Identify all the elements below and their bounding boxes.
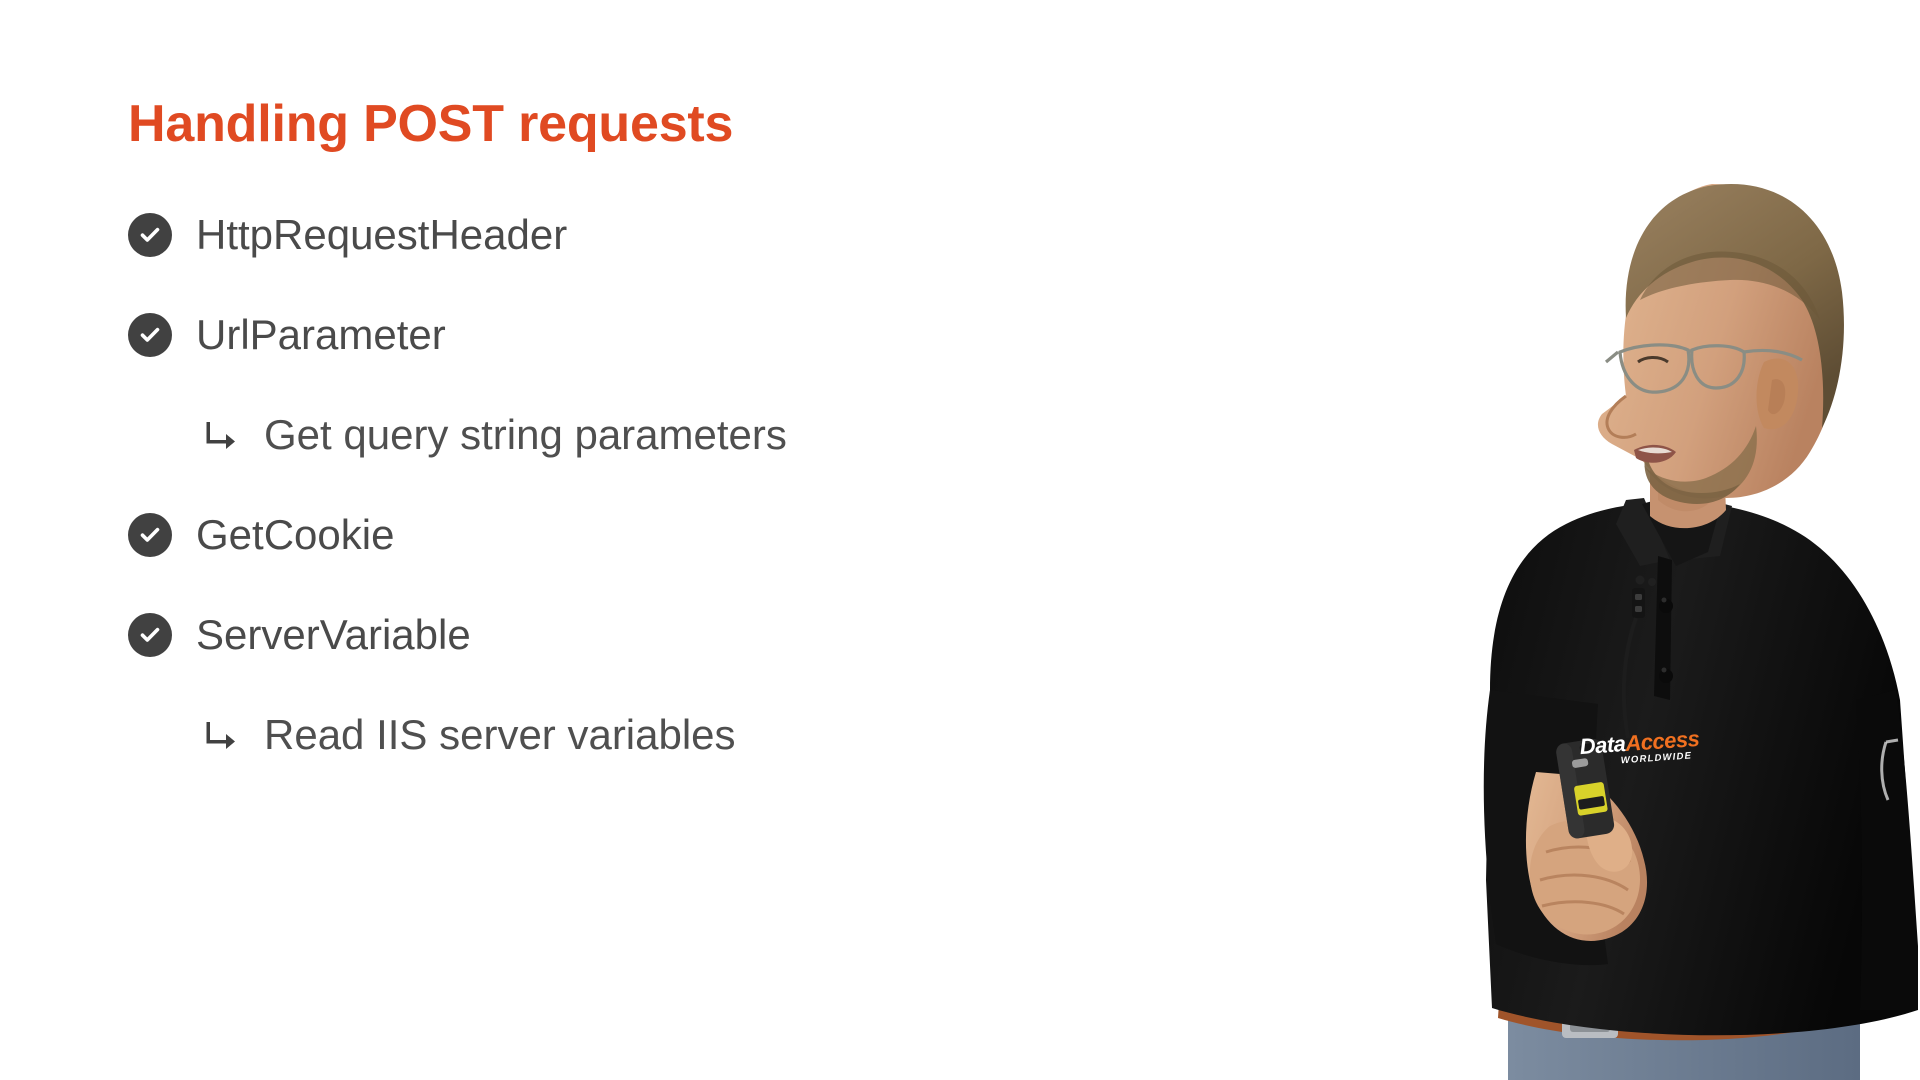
bullet-list: HttpRequestHeader UrlParameter Get <box>128 185 1248 785</box>
list-item-label: UrlParameter <box>196 314 446 356</box>
sub-list-item: Read IIS server variables <box>128 685 1248 785</box>
list-item: GetCookie <box>128 485 1248 585</box>
page-title: Handling POST requests <box>128 96 1248 153</box>
check-circle-icon <box>128 213 172 257</box>
check-circle-icon <box>128 313 172 357</box>
slide-body: Handling POST requests HttpRequestHeader <box>128 96 1248 785</box>
shirt-logo: DataAccess WORLDWIDE <box>1579 728 1701 769</box>
logo-word-access: Access <box>1624 726 1700 756</box>
presenter-video-overlay: DataAccess WORLDWIDE <box>1340 0 1920 1080</box>
sub-arrow-icon <box>204 413 248 457</box>
list-item: HttpRequestHeader <box>128 185 1248 285</box>
list-item-label: HttpRequestHeader <box>196 214 567 256</box>
sub-list-item-label: Get query string parameters <box>264 414 787 456</box>
check-circle-icon <box>128 513 172 557</box>
sub-list-item-label: Read IIS server variables <box>264 714 736 756</box>
list-item-label: ServerVariable <box>196 614 471 656</box>
sub-arrow-icon <box>204 713 248 757</box>
check-circle-icon <box>128 613 172 657</box>
sub-list-item: Get query string parameters <box>128 385 1248 485</box>
logo-tagline: WORLDWIDE <box>1621 751 1701 766</box>
list-item-label: GetCookie <box>196 514 394 556</box>
list-item: ServerVariable <box>128 585 1248 685</box>
list-item: UrlParameter <box>128 285 1248 385</box>
logo-word-data: Data <box>1579 731 1626 759</box>
slide-canvas: Handling POST requests HttpRequestHeader <box>0 0 1920 1080</box>
